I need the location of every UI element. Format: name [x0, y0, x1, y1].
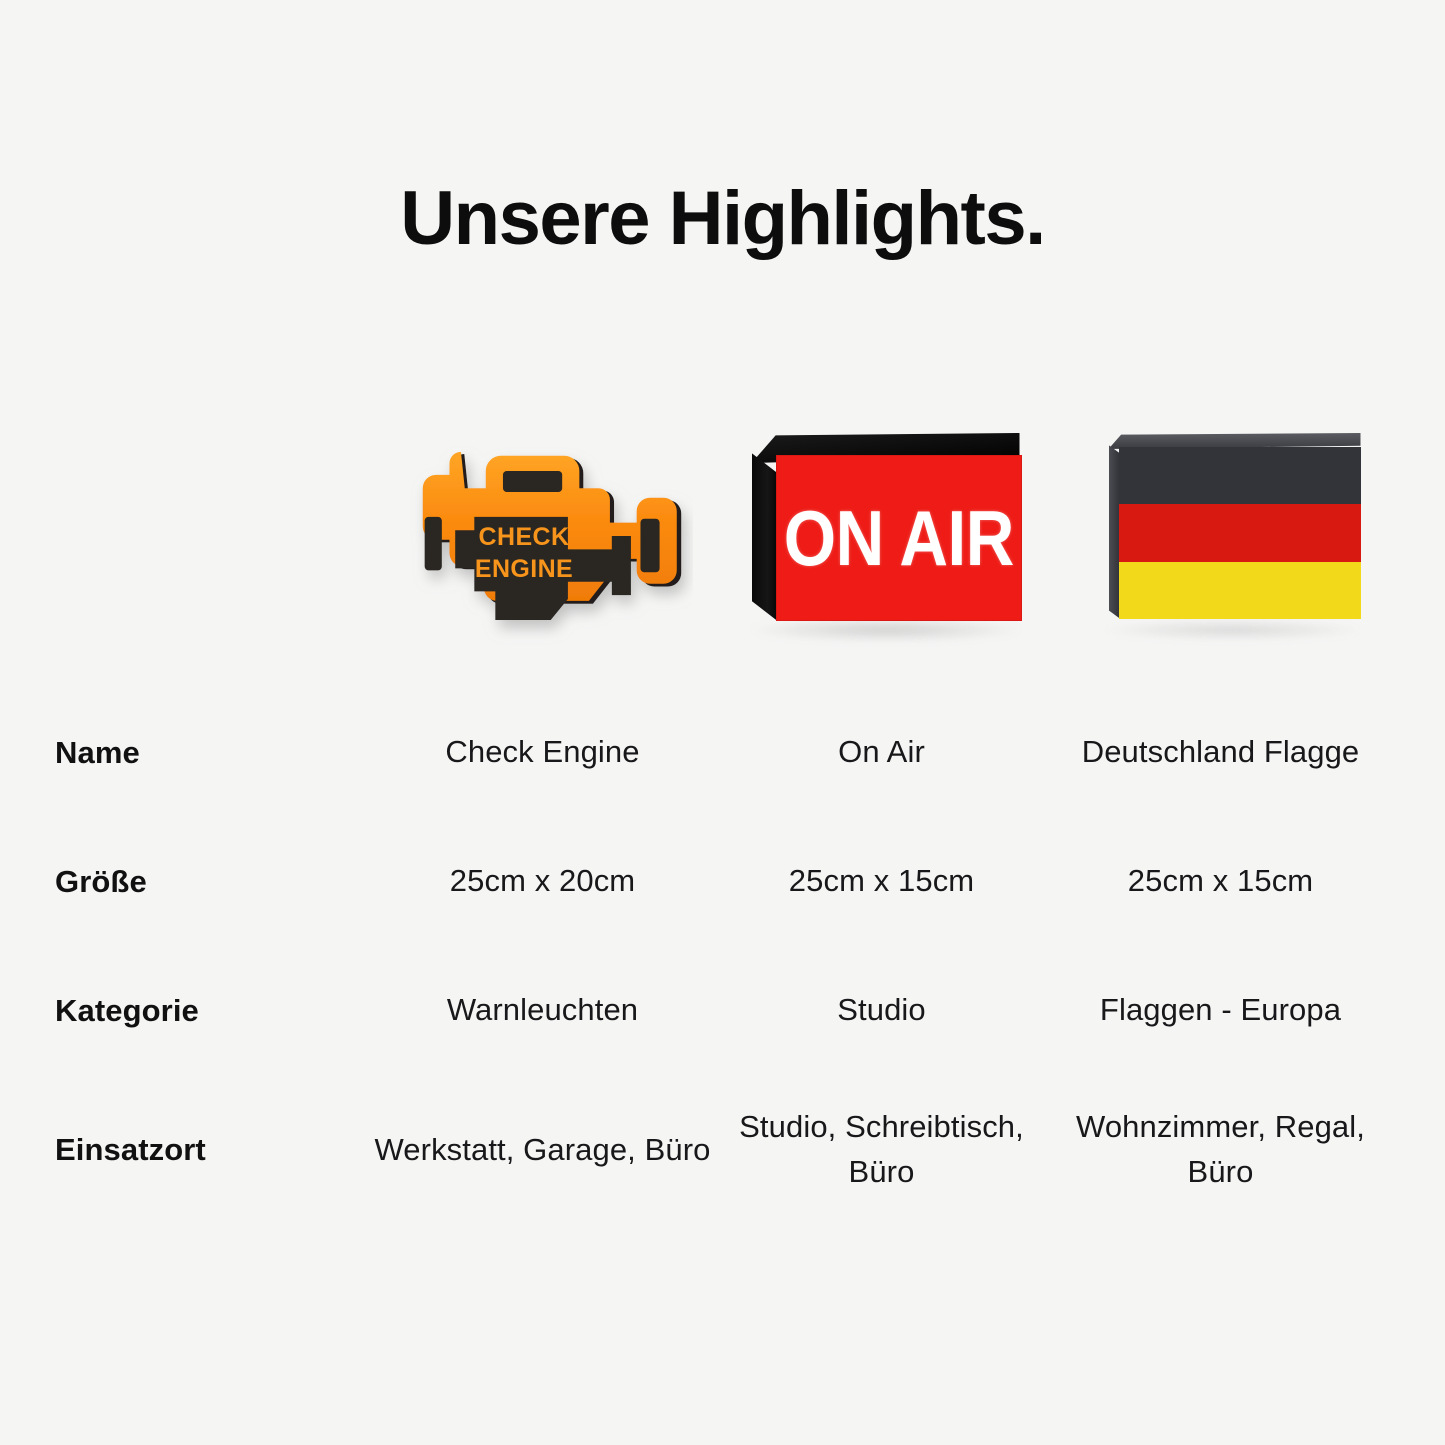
cell-name-on-air: On Air	[712, 688, 1051, 817]
cell-einsatzort-check-engine: Werkstatt, Garage, Büro	[373, 1075, 712, 1225]
flag-band-gold	[1119, 562, 1361, 619]
table-row: Name Check Engine On Air Deutschland Fla…	[55, 688, 1390, 817]
flag-band-red	[1119, 504, 1361, 561]
row-label-kategorie: Kategorie	[55, 946, 373, 1075]
cell-name-check-engine: Check Engine	[373, 688, 712, 817]
strip-label-spacer	[55, 400, 373, 665]
on-air-box-side-edge	[752, 453, 778, 621]
row-label-groesse: Größe	[55, 817, 373, 946]
on-air-box-face: ON AIR	[776, 455, 1022, 621]
on-air-shadow	[750, 619, 1022, 641]
flag-band-black	[1119, 447, 1361, 504]
cell-groesse-check-engine: 25cm x 20cm	[373, 817, 712, 946]
on-air-text: ON AIR	[783, 493, 1013, 583]
germany-flag-lightbox[interactable]	[1071, 417, 1371, 647]
product-figure-deutschland-flagge[interactable]	[1051, 400, 1390, 665]
cell-groesse-flagge: 25cm x 15cm	[1051, 817, 1390, 946]
flag-shadow	[1107, 621, 1359, 639]
page-title: Unsere Highlights.	[0, 177, 1445, 261]
check-engine-icon[interactable]: CHECK ENGINE	[393, 427, 693, 657]
cell-kategorie-check-engine: Warnleuchten	[373, 946, 712, 1075]
product-figure-on-air[interactable]: ON AIR	[712, 400, 1051, 665]
check-engine-text-line2: ENGINE	[474, 555, 572, 583]
on-air-lightbox[interactable]: ON AIR	[732, 417, 1032, 647]
flag-box-face	[1119, 447, 1361, 619]
table-row: Kategorie Warnleuchten Studio Flaggen - …	[55, 946, 1390, 1075]
row-label-name: Name	[55, 688, 373, 817]
highlights-page: Unsere Highlights.	[0, 0, 1445, 1445]
product-figure-check-engine[interactable]: CHECK ENGINE	[373, 400, 712, 665]
table-row: Größe 25cm x 20cm 25cm x 15cm 25cm x 15c…	[55, 817, 1390, 946]
cell-einsatzort-on-air: Studio, Schreibtisch, Büro	[712, 1075, 1051, 1225]
spec-comparison-table: Name Check Engine On Air Deutschland Fla…	[55, 688, 1390, 1225]
cell-kategorie-on-air: Studio	[712, 946, 1051, 1075]
check-engine-text-line1: CHECK	[478, 523, 569, 551]
table-row: Einsatzort Werkstatt, Garage, Büro Studi…	[55, 1075, 1390, 1225]
cell-kategorie-flagge: Flaggen - Europa	[1051, 946, 1390, 1075]
cell-einsatzort-flagge: Wohnzimmer, Regal, Büro	[1051, 1075, 1390, 1225]
row-label-einsatzort: Einsatzort	[55, 1075, 373, 1225]
cell-groesse-on-air: 25cm x 15cm	[712, 817, 1051, 946]
cell-name-flagge: Deutschland Flagge	[1051, 688, 1390, 817]
product-image-strip: CHECK ENGINE ON AIR	[55, 400, 1390, 665]
